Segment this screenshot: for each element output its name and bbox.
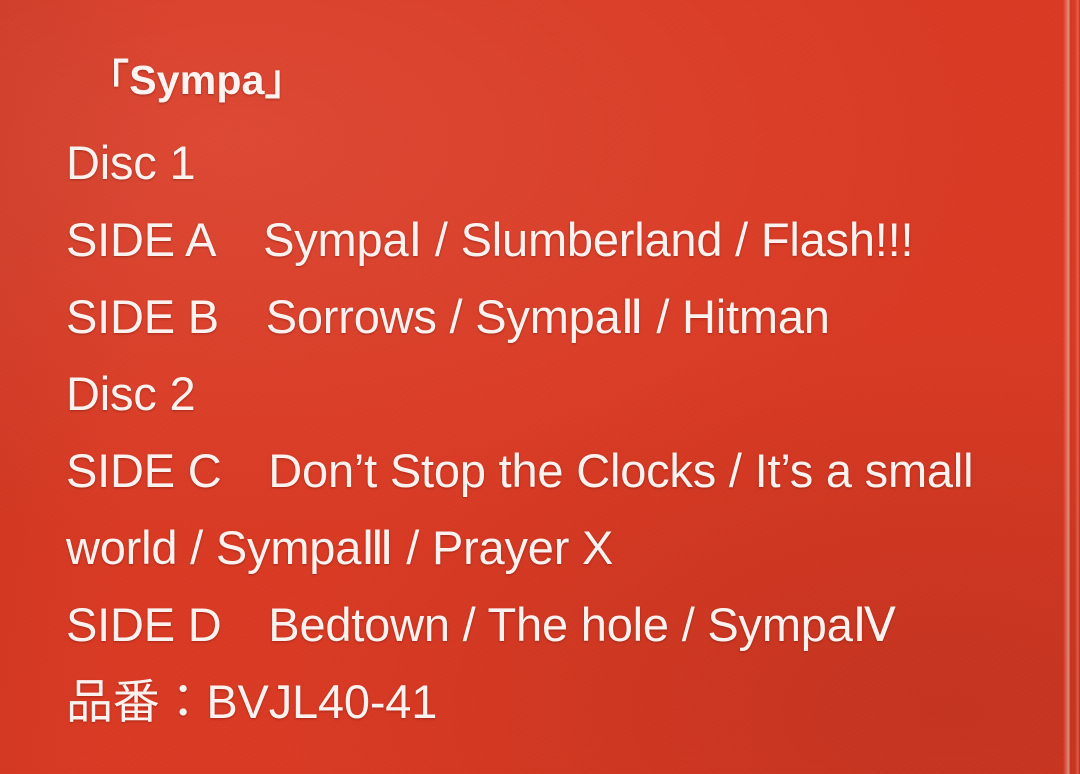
disc-heading-2: Disc 2 <box>66 355 1056 432</box>
tracklist-line-side-b: SIDE B Sorrows / SympaⅡ / Hitman <box>66 278 1056 355</box>
album-insert-card: 「Sympa」 Disc 1 SIDE A SympaⅠ / Slumberla… <box>0 0 1080 774</box>
disc-heading-1: Disc 1 <box>66 124 1056 201</box>
catalog-number: 品番：BVJL40-41 <box>66 663 1056 740</box>
paper-edge-right <box>1075 0 1080 774</box>
tracklist-line-side-d: SIDE D Bedtown / The hole / SympaⅣ <box>66 586 1056 663</box>
tracklist: Disc 1 SIDE A SympaⅠ / Slumberland / Fla… <box>66 124 1056 740</box>
paper-crease-right <box>1063 0 1072 774</box>
tracklist-line-side-c-continued: world / SympaⅢ / Prayer X <box>66 509 1056 586</box>
tracklist-line-side-c: SIDE C Don’t Stop the Clocks / It’s a sm… <box>66 432 1056 509</box>
album-title: 「Sympa」 <box>88 46 306 106</box>
tracklist-line-side-a: SIDE A SympaⅠ / Slumberland / Flash!!! <box>66 201 1056 278</box>
